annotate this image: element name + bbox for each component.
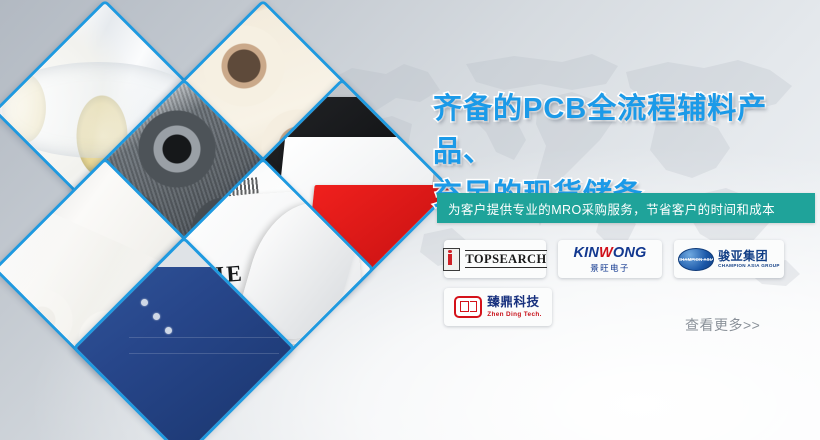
bag-line <box>129 337 279 338</box>
partner-logo-champion-asia[interactable]: CHAMPION ASIA 骏亚集团 CHAMPION ASIA GROUP <box>674 240 784 278</box>
banner-subtitle-bar: 为客户提供专业的MRO采购服务，节省客户的时间和成本 <box>437 193 815 223</box>
kinwong-wordmark: KINWONG <box>573 246 646 261</box>
topsearch-wordmark: TOPSEARCH <box>465 250 546 268</box>
globe-label: CHAMPION ASIA <box>678 257 714 262</box>
product-photo-collage: JIE <box>0 32 414 440</box>
partner-logo-zhen-ding[interactable]: 臻鼎科技 Zhen Ding Tech. <box>444 288 552 326</box>
headline-line-1: 齐备的PCB全流程辅料产品、 <box>433 88 813 174</box>
zhen-ding-lockup: 臻鼎科技 Zhen Ding Tech. <box>454 296 541 318</box>
promo-banner: JIE 齐备的PCB全流程辅料产品、 充足的现货储备 为客户提供专业的MRO采购… <box>0 0 820 440</box>
bag-dot <box>141 299 148 306</box>
champion-asia-text: 骏亚集团 CHAMPION ASIA GROUP <box>718 250 780 269</box>
champion-asia-english-name: CHAMPION ASIA GROUP <box>718 264 780 269</box>
zhen-ding-text: 臻鼎科技 Zhen Ding Tech. <box>487 296 541 318</box>
kinwong-chinese-name: 景旺电子 <box>573 264 646 273</box>
zhen-ding-english-name: Zhen Ding Tech. <box>487 312 541 318</box>
champion-asia-lockup: CHAMPION ASIA 骏亚集团 CHAMPION ASIA GROUP <box>678 248 780 271</box>
banner-subtitle-text: 为客户提供专业的MRO采购服务，节省客户的时间和成本 <box>437 199 775 218</box>
globe-icon: CHAMPION ASIA <box>678 248 714 271</box>
zhen-ding-monogram-icon <box>454 296 482 318</box>
bag-line <box>129 353 279 354</box>
topsearch-lockup: TOPSEARCH <box>443 248 546 271</box>
champion-asia-chinese-name: 骏亚集团 <box>718 250 780 262</box>
bag-dot <box>165 327 172 334</box>
partner-logo-row-1: TOPSEARCH KINWONG 景旺电子 CHAMPION ASIA 骏亚集… <box>444 240 816 278</box>
partner-logo-topsearch[interactable]: TOPSEARCH <box>444 240 546 278</box>
kinwong-word-accent: W <box>599 245 613 261</box>
kinwong-word-part1: KIN <box>573 245 599 261</box>
partner-logo-kinwong[interactable]: KINWONG 景旺电子 <box>558 240 662 278</box>
view-more-link[interactable]: 查看更多>> <box>685 315 760 335</box>
zhen-ding-chinese-name: 臻鼎科技 <box>487 296 541 309</box>
bag-dot <box>153 313 160 320</box>
kinwong-word-part2: ONG <box>613 245 647 261</box>
kinwong-lockup: KINWONG 景旺电子 <box>573 246 646 272</box>
topsearch-i-mark-icon <box>443 248 460 271</box>
